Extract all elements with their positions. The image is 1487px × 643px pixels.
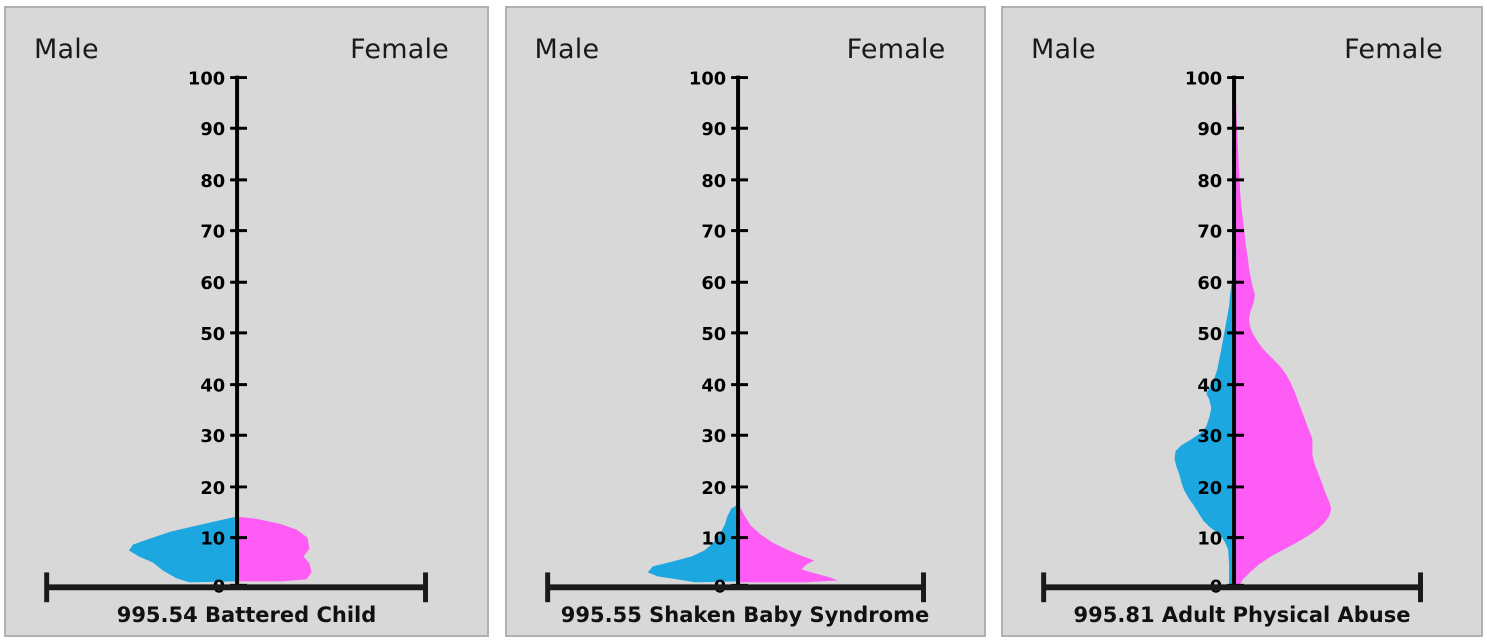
panel-caption-1: 995.55 Shaken Baby Syndrome [507,603,984,627]
female-area-0 [238,517,311,582]
pyramid-plot-0: 100 90 80 70 60 50 40 30 20 10 0 [6,8,487,635]
svg-text:50: 50 [200,324,225,345]
panel-caption-0: 995.54 Battered Child [6,603,487,627]
svg-text:40: 40 [1197,376,1222,397]
svg-text:80: 80 [1197,171,1222,192]
svg-text:20: 20 [1197,478,1222,499]
y-axis-tick-labels-0: 100 90 80 70 60 50 40 30 20 10 0 [188,68,225,597]
svg-text:50: 50 [1197,324,1222,345]
svg-text:40: 40 [200,376,225,397]
svg-text:10: 10 [200,529,225,550]
svg-text:60: 60 [200,273,225,294]
svg-text:50: 50 [701,324,726,345]
y-axis-tick-labels-1: 100 90 80 70 60 50 40 30 20 10 0 [688,68,725,597]
svg-text:90: 90 [200,119,225,140]
svg-text:90: 90 [701,119,726,140]
svg-text:80: 80 [701,171,726,192]
svg-text:70: 70 [1197,222,1222,243]
pyramid-plot-2: 100 90 80 70 60 50 40 30 20 10 0 [1003,8,1481,635]
pyramid-svg-2: 100 90 80 70 60 50 40 30 20 10 0 [1003,8,1481,635]
svg-text:60: 60 [701,273,726,294]
female-area-1 [739,505,838,583]
panel-shaken-baby-syndrome: Male Female [505,6,986,637]
pyramid-svg-1: 100 90 80 70 60 50 40 30 20 10 0 [507,8,984,635]
svg-text:30: 30 [701,426,726,447]
svg-text:20: 20 [701,478,726,499]
svg-text:70: 70 [200,222,225,243]
panel-battered-child: Male Female [4,6,489,637]
pyramid-svg-0: 100 90 80 70 60 50 40 30 20 10 0 [6,8,487,635]
svg-text:10: 10 [1197,529,1222,550]
female-area-2 [1235,78,1331,587]
svg-text:40: 40 [701,376,726,397]
panel-adult-physical-abuse: Male Female [1001,6,1483,637]
svg-text:30: 30 [1197,426,1222,447]
population-pyramid-figure: Male Female [0,0,1487,643]
svg-text:60: 60 [1197,273,1222,294]
svg-text:10: 10 [701,529,726,550]
svg-text:100: 100 [688,68,725,89]
svg-text:90: 90 [1197,119,1222,140]
svg-text:20: 20 [200,478,225,499]
svg-text:100: 100 [188,68,225,89]
svg-text:70: 70 [701,222,726,243]
panel-caption-2: 995.81 Adult Physical Abuse [1003,603,1481,627]
svg-text:100: 100 [1185,68,1222,89]
svg-text:80: 80 [200,171,225,192]
pyramid-plot-1: 100 90 80 70 60 50 40 30 20 10 0 [507,8,984,635]
svg-text:30: 30 [200,426,225,447]
